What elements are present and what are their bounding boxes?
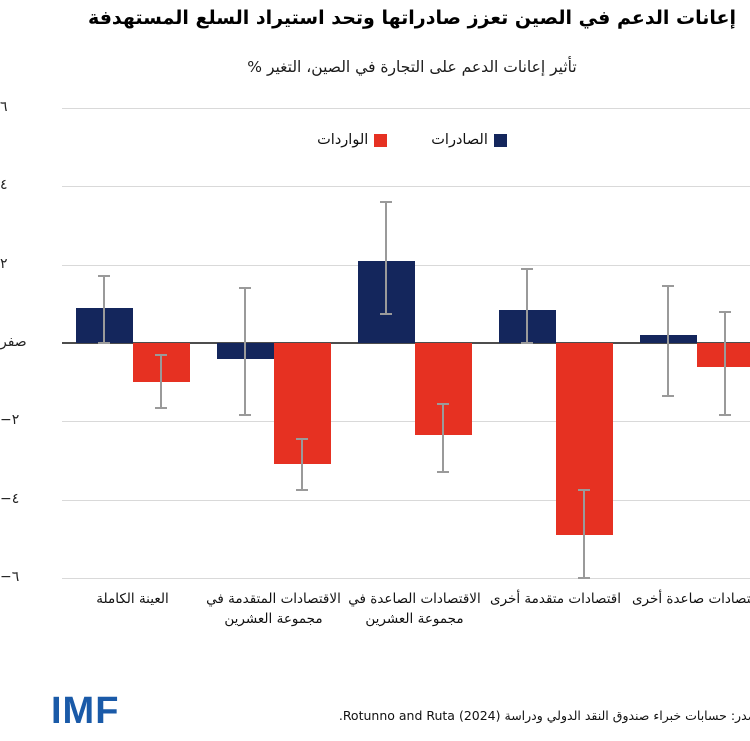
y-axis-tick-label: ٤−: [0, 491, 23, 507]
gridline: [25, 265, 730, 266]
error-bar: [546, 490, 548, 578]
chart-subtitle: تأثير إعانات الدعم على التجارة في الصين،…: [0, 58, 750, 76]
chart-title: إعانات الدعم في الصين تعزز صادراتها وتحد…: [0, 6, 750, 32]
error-bar: [489, 269, 491, 343]
y-axis-tick-label: ٢: [0, 256, 23, 272]
y-axis-tick-label: ٦−: [0, 569, 23, 585]
x-axis-label: اقتصادات متقدمة أخرى: [448, 590, 589, 610]
gridline: [25, 186, 730, 187]
error-bar-cap-lower: [682, 414, 694, 416]
error-bar: [630, 286, 632, 396]
x-axis-label: الاقتصادات المتقدمة في مجموعة العشرين: [166, 590, 307, 629]
y-axis-tick-label: ٢−: [0, 412, 23, 428]
error-bar-cap-lower: [202, 414, 214, 416]
error-bar-cap-lower: [259, 489, 271, 491]
error-bar-cap-upper: [400, 403, 412, 405]
error-bar: [687, 312, 689, 416]
imf-logo: IMF: [14, 690, 82, 733]
y-axis-tick-label: ٦: [0, 99, 23, 115]
error-bar: [264, 439, 266, 490]
plot-area: ٦٤٢صفر٢−٤−٦−: [25, 108, 730, 578]
error-bar: [348, 202, 350, 314]
gridline: [25, 108, 730, 109]
error-bar-cap-lower: [61, 342, 73, 344]
chart-container: إعانات الدعم في الصين تعزز صادراتها وتحد…: [0, 0, 750, 741]
error-bar-cap-upper: [259, 438, 271, 440]
error-bar: [405, 404, 407, 473]
error-bar: [123, 355, 125, 408]
error-bar: [66, 276, 68, 343]
error-bar-cap-lower: [484, 342, 496, 344]
y-axis-tick-label: صفر: [0, 334, 23, 350]
error-bar-cap-upper: [343, 201, 355, 203]
error-bar-cap-upper: [625, 285, 637, 287]
gridline: [25, 500, 730, 501]
source-note: المصدر: حسابات خبراء صندوق النقد الدولي …: [302, 708, 736, 723]
error-bar-cap-upper: [484, 268, 496, 270]
x-axis-label: الاقتصادات الصاعدة في مجموعة العشرين: [307, 590, 448, 629]
y-axis-tick-label: ٤: [0, 177, 23, 193]
error-bar-cap-lower: [541, 577, 553, 579]
error-bar-cap-lower: [343, 313, 355, 315]
gridline: [25, 578, 730, 579]
x-axis-label: العينة الكاملة: [25, 590, 166, 610]
x-axis-label: اقتصادات صاعدة أخرى: [589, 590, 730, 610]
error-bar-cap-lower: [625, 395, 637, 397]
error-bar-cap-upper: [202, 287, 214, 289]
error-bar-cap-upper: [118, 354, 130, 356]
error-bar: [207, 288, 209, 415]
error-bar-cap-lower: [118, 407, 130, 409]
error-bar-cap-lower: [400, 471, 412, 473]
error-bar-cap-upper: [541, 489, 553, 491]
error-bar-cap-upper: [61, 275, 73, 277]
x-axis-category-labels: العينة الكاملةالاقتصادات المتقدمة في مجم…: [25, 590, 730, 685]
error-bar-cap-upper: [682, 311, 694, 313]
